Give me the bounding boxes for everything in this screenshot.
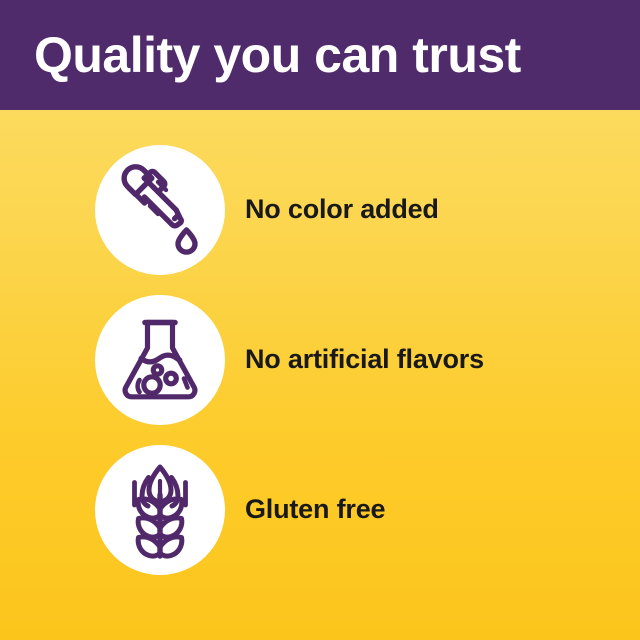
quality-badge-poster: Quality you can trust	[0, 0, 640, 640]
feature-row: No artificial flavors	[0, 295, 640, 425]
icon-badge	[95, 295, 225, 425]
icon-badge	[95, 445, 225, 575]
feature-row: No color added	[0, 145, 640, 275]
feature-label: No artificial flavors	[245, 345, 484, 375]
dropper-icon	[114, 164, 206, 256]
page-title: Quality you can trust	[34, 30, 521, 80]
wheat-icon	[117, 461, 203, 559]
feature-list: No color added	[0, 110, 640, 640]
feature-label: Gluten free	[245, 495, 385, 525]
feature-label: No color added	[245, 195, 439, 225]
feature-row: Gluten free	[0, 445, 640, 575]
header-bar: Quality you can trust	[0, 0, 640, 110]
icon-badge	[95, 145, 225, 275]
flask-icon	[114, 314, 206, 406]
